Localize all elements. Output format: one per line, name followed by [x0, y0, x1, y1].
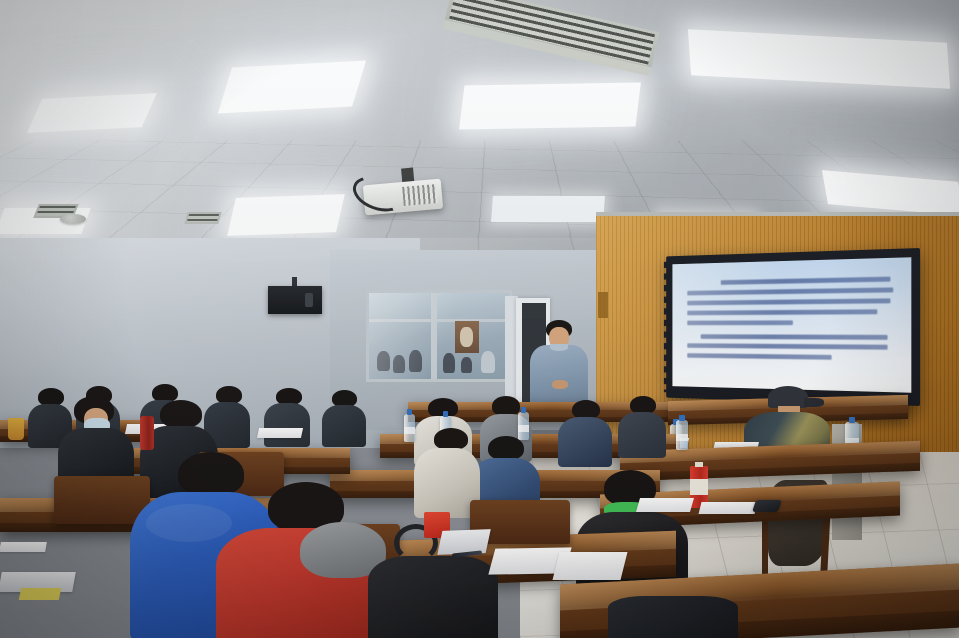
water-bottle	[676, 420, 688, 450]
navy-jacket	[558, 417, 612, 467]
student-back-left-6	[322, 390, 366, 444]
light-panel	[491, 196, 605, 222]
thermos	[140, 416, 154, 450]
student-jacket	[322, 405, 366, 447]
loose-papers	[0, 542, 47, 552]
loose-papers	[699, 502, 758, 514]
smartphone[interactable]	[752, 500, 782, 512]
smoke-detector	[60, 214, 86, 224]
notebook	[437, 529, 491, 555]
student-navy-jacket	[558, 400, 612, 464]
loose-papers	[553, 552, 628, 580]
screen-glare	[672, 257, 911, 393]
wall-speaker-right	[598, 292, 608, 318]
student-hair	[160, 400, 202, 428]
cap-brim	[804, 398, 824, 407]
notebook	[636, 498, 694, 512]
screen-tension-tabs	[664, 262, 669, 393]
black-cap	[768, 386, 808, 408]
student-foreground-right	[608, 596, 738, 638]
light-panel	[459, 82, 641, 129]
student-foreground-dark	[368, 556, 498, 638]
wall-speaker	[268, 286, 322, 314]
student-hair	[434, 428, 468, 450]
student-back-right	[618, 396, 666, 456]
student-jacket	[618, 412, 666, 458]
dark-jacket	[608, 596, 738, 638]
loose-papers	[257, 428, 303, 438]
drink-cup	[8, 418, 24, 440]
student-hair	[488, 436, 524, 460]
projected-slide	[672, 257, 911, 393]
student-jacket	[264, 403, 310, 447]
light-panel	[218, 61, 366, 114]
student-hair	[492, 396, 520, 416]
interior-observation-window	[366, 290, 512, 382]
lecturer-collar	[550, 344, 568, 351]
lecturer-hands	[552, 380, 568, 389]
ceiling-vent	[184, 212, 221, 224]
student-red-jacket	[216, 482, 386, 638]
light-panel	[27, 93, 157, 133]
sticky-note	[19, 588, 62, 600]
light-panel	[227, 194, 345, 236]
dark-jacket	[368, 556, 498, 638]
projector-vent	[402, 184, 438, 206]
projection-screen	[666, 248, 920, 406]
classroom-photo	[0, 0, 959, 638]
